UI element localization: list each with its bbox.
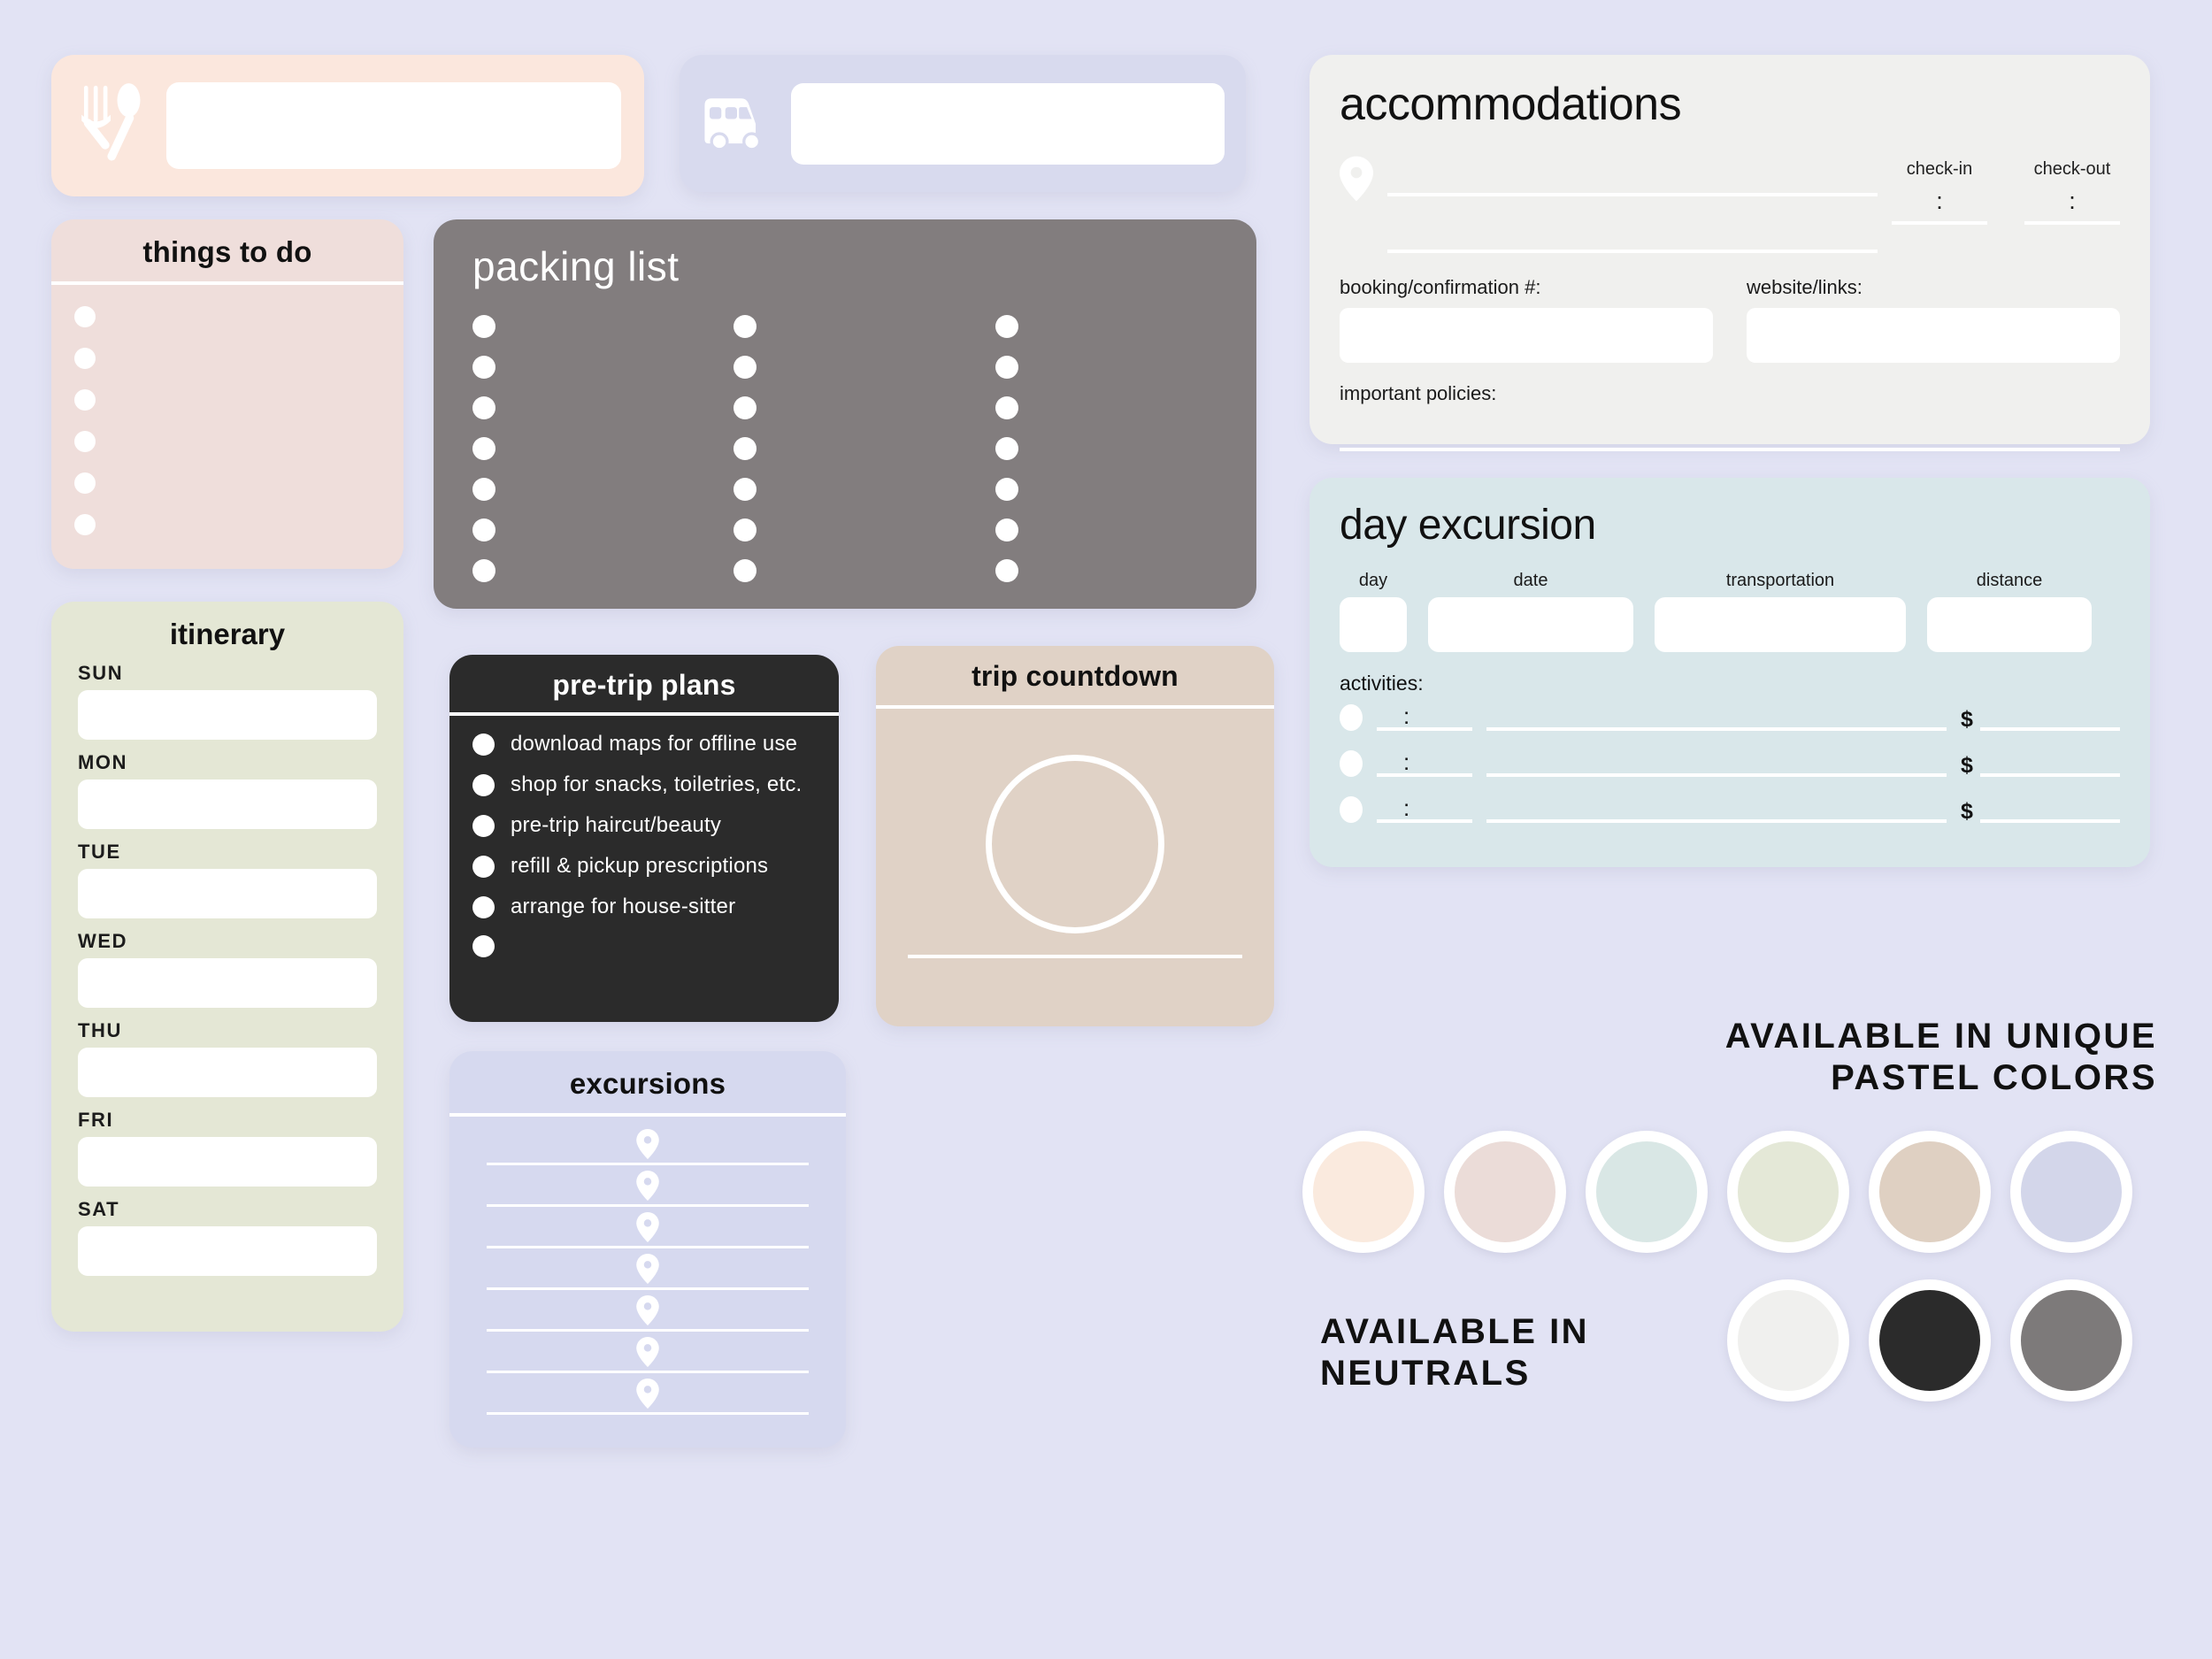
currency-symbol: $: [1961, 709, 1973, 731]
activity-cost-field[interactable]: $: [1961, 755, 2120, 777]
excursion-row[interactable]: [487, 1373, 809, 1415]
dining-input[interactable]: [166, 82, 621, 169]
check-in-label: check-in: [1892, 159, 1987, 180]
transport-card: [680, 55, 1246, 192]
distance-field-group: distance: [1927, 571, 2092, 652]
checkbox-bullet[interactable]: [472, 396, 495, 419]
pastel-tagline-line-2: PASTEL COLORS: [1725, 1057, 2157, 1099]
map-pin-icon: [636, 1254, 659, 1284]
map-pin-icon: [636, 1295, 659, 1325]
address-lines: [1387, 154, 1878, 253]
activity-time-field[interactable]: :: [1377, 773, 1472, 777]
packing-column-3: [995, 315, 1256, 582]
itinerary-day-row: SAT: [78, 1198, 377, 1276]
map-pin-icon: [636, 1337, 659, 1367]
neutral-tagline-line-2: NEUTRALS: [1320, 1353, 1589, 1394]
checkbox-bullet[interactable]: [995, 356, 1018, 379]
distance-column-label: distance: [1927, 571, 2092, 591]
packing-column-1: [472, 315, 733, 582]
itinerary-day-row: SUN: [78, 662, 377, 740]
checkbox-bullet[interactable]: [1340, 704, 1363, 731]
checkbox-bullet[interactable]: [995, 518, 1018, 541]
activity-cost-field[interactable]: $: [1961, 801, 2120, 823]
plan-item-label: arrange for house-sitter: [511, 895, 735, 919]
plan-item[interactable]: [472, 935, 839, 957]
excursion-row[interactable]: [487, 1124, 809, 1165]
day-excursion-title: day excursion: [1340, 501, 2120, 549]
trip-countdown-body: [876, 709, 1274, 1010]
itinerary-day-row: WED: [78, 930, 377, 1008]
itinerary-day-row: MON: [78, 751, 377, 829]
check-in-line[interactable]: [1892, 221, 1987, 225]
pre-trip-plans-list: download maps for offline use shop for s…: [449, 716, 839, 957]
itinerary-day-row: THU: [78, 1019, 377, 1097]
date-column-label: date: [1428, 571, 1633, 591]
pre-trip-plans-card: pre-trip plans download maps for offline…: [449, 655, 839, 1022]
day-input-thu[interactable]: [78, 1048, 377, 1097]
excursion-row[interactable]: [487, 1165, 809, 1207]
things-to-do-title: things to do: [51, 219, 403, 281]
time-separator: :: [1403, 796, 1409, 819]
checkbox-bullet[interactable]: [733, 315, 757, 338]
plan-item-label: refill & pickup prescriptions: [511, 854, 768, 879]
excursion-row[interactable]: [487, 1290, 809, 1332]
distance-input[interactable]: [1927, 597, 2092, 652]
check-out-label: check-out: [2024, 159, 2120, 180]
swatch-periwinkle[interactable]: [2010, 1131, 2132, 1253]
activity-row: : $: [1340, 750, 2120, 777]
checkbox-bullet[interactable]: [733, 356, 757, 379]
trip-countdown-card: trip countdown: [876, 646, 1274, 1026]
accommodations-title: accommodations: [1340, 78, 2120, 131]
activity-description-field[interactable]: [1486, 773, 1947, 777]
day-field-group: day: [1340, 571, 1407, 652]
pastel-swatch-row: [1302, 1131, 2132, 1253]
checkbox-bullet[interactable]: [733, 518, 757, 541]
activity-time-field[interactable]: :: [1377, 819, 1472, 823]
check-in-separator: :: [1892, 189, 1987, 213]
checkbox-bullet[interactable]: [472, 815, 495, 837]
day-label-sun: SUN: [78, 662, 377, 685]
excursion-row[interactable]: [487, 1207, 809, 1248]
activity-row: : $: [1340, 704, 2120, 731]
plan-item[interactable]: download maps for offline use: [472, 732, 839, 757]
excursion-row[interactable]: [487, 1248, 809, 1290]
countdown-circle-input[interactable]: [986, 755, 1164, 933]
itinerary-day-row: FRI: [78, 1109, 377, 1187]
checkbox-bullet[interactable]: [733, 478, 757, 501]
policies-line[interactable]: [1340, 448, 2120, 451]
checkbox-bullet[interactable]: [74, 348, 96, 369]
countdown-note-line[interactable]: [908, 955, 1242, 958]
itinerary-day-row: TUE: [78, 841, 377, 918]
checkbox-bullet[interactable]: [733, 437, 757, 460]
activity-description-field[interactable]: [1486, 819, 1947, 823]
date-field-group: date: [1428, 571, 1633, 652]
day-input-fri[interactable]: [78, 1137, 377, 1187]
checkbox-bullet[interactable]: [995, 437, 1018, 460]
pre-trip-plans-title: pre-trip plans: [449, 655, 839, 712]
plan-item[interactable]: arrange for house-sitter: [472, 895, 839, 919]
date-input[interactable]: [1428, 597, 1633, 652]
checkbox-bullet[interactable]: [472, 356, 495, 379]
day-label-sat: SAT: [78, 1198, 377, 1221]
checkbox-bullet[interactable]: [472, 774, 495, 796]
swatch-warm-tan[interactable]: [1869, 1131, 1991, 1253]
checkbox-bullet[interactable]: [74, 472, 96, 494]
day-input-sat[interactable]: [78, 1226, 377, 1276]
checkbox-bullet[interactable]: [74, 306, 96, 327]
checkbox-bullet[interactable]: [472, 733, 495, 756]
packing-list-grid: [472, 315, 1256, 582]
map-pin-icon: [636, 1171, 659, 1201]
plan-item-label: pre-trip haircut/beauty: [511, 813, 721, 838]
plan-item[interactable]: shop for snacks, toiletries, etc.: [472, 772, 839, 797]
day-input[interactable]: [1340, 597, 1407, 652]
swatch-off-white[interactable]: [1727, 1279, 1849, 1402]
map-pin-icon: [636, 1379, 659, 1409]
plan-item-label: download maps for offline use: [511, 732, 797, 757]
plan-item-label: shop for snacks, toiletries, etc.: [511, 772, 802, 797]
day-input-tue[interactable]: [78, 869, 377, 918]
pastel-tagline-line-1: AVAILABLE IN UNIQUE: [1725, 1016, 2157, 1057]
activity-cost-field[interactable]: $: [1961, 709, 2120, 731]
checkbox-bullet[interactable]: [472, 315, 495, 338]
day-excursion-fields: day date transportation distance: [1340, 571, 2120, 652]
checkbox-bullet[interactable]: [74, 514, 96, 535]
check-out-line[interactable]: [2024, 221, 2120, 225]
check-out-separator: :: [2024, 189, 2120, 213]
excursions-list: [449, 1117, 846, 1415]
day-input-mon[interactable]: [78, 780, 377, 829]
day-label-thu: THU: [78, 1019, 377, 1042]
checkbox-bullet[interactable]: [472, 437, 495, 460]
itinerary-title: itinerary: [78, 618, 377, 651]
neutral-swatch-row: [1727, 1279, 2132, 1402]
excursions-card: excursions: [449, 1051, 846, 1448]
checkbox-bullet[interactable]: [472, 935, 495, 957]
checkbox-bullet[interactable]: [74, 389, 96, 411]
transportation-field-group: transportation: [1655, 571, 1906, 652]
activity-description-field[interactable]: [1486, 727, 1947, 731]
check-times-header: check-in check-out: [1892, 159, 2120, 180]
transport-input[interactable]: [791, 83, 1225, 165]
day-label-mon: MON: [78, 751, 377, 774]
checkbox-bullet[interactable]: [995, 478, 1018, 501]
checkbox-bullet[interactable]: [995, 559, 1018, 582]
pastel-tagline: AVAILABLE IN UNIQUE PASTEL COLORS: [1725, 1016, 2157, 1099]
checkbox-bullet[interactable]: [733, 396, 757, 419]
day-excursion-card: day excursion day date transportation di…: [1310, 478, 2150, 867]
packing-list-card: packing list: [434, 219, 1256, 609]
itinerary-card: itinerary SUN MON TUE WED THU FRI SAT: [51, 602, 403, 1332]
checkbox-bullet[interactable]: [472, 518, 495, 541]
currency-symbol: $: [1961, 801, 1973, 823]
day-label-wed: WED: [78, 930, 377, 953]
booking-input[interactable]: [1340, 308, 1713, 363]
swatch-mid-gray[interactable]: [2010, 1279, 2132, 1402]
map-pin-icon: [636, 1212, 659, 1242]
transportation-input[interactable]: [1655, 597, 1906, 652]
swatch-dusty-rose[interactable]: [1444, 1131, 1566, 1253]
time-separator: :: [1403, 750, 1409, 773]
activities-label: activities:: [1340, 672, 2120, 695]
checkbox-bullet[interactable]: [995, 396, 1018, 419]
booking-website-row: booking/confirmation #: website/links:: [1340, 276, 2120, 363]
map-pin-icon: [636, 1129, 659, 1159]
swatch-pale-mint[interactable]: [1586, 1131, 1708, 1253]
checkbox-bullet[interactable]: [1340, 750, 1363, 777]
checkbox-bullet[interactable]: [74, 431, 96, 452]
checkbox-bullet[interactable]: [733, 559, 757, 582]
checkbox-bullet[interactable]: [472, 896, 495, 918]
checkbox-bullet[interactable]: [995, 315, 1018, 338]
website-group: website/links:: [1747, 276, 2120, 363]
day-column-label: day: [1340, 571, 1407, 591]
checkbox-bullet[interactable]: [472, 478, 495, 501]
transportation-column-label: transportation: [1655, 571, 1906, 591]
packing-column-2: [733, 315, 995, 582]
website-label: website/links:: [1747, 276, 2120, 299]
activity-time-field[interactable]: :: [1377, 727, 1472, 731]
address-line-2[interactable]: [1387, 250, 1878, 253]
day-label-fri: FRI: [78, 1109, 377, 1132]
dining-card: [51, 55, 644, 196]
policies-label: important policies:: [1340, 382, 2120, 405]
packing-list-title: packing list: [472, 242, 1256, 290]
day-input-sun[interactable]: [78, 690, 377, 740]
neutral-tagline-line-1: AVAILABLE IN: [1320, 1311, 1589, 1353]
plan-item[interactable]: refill & pickup prescriptions: [472, 854, 839, 879]
fork-and-spoon-icon: [74, 83, 147, 168]
activity-row: : $: [1340, 796, 2120, 823]
excursion-row[interactable]: [487, 1332, 809, 1373]
accommodations-card: accommodations check-in check-out : :: [1310, 55, 2150, 444]
things-to-do-list: [51, 285, 403, 535]
swatch-peach-cream[interactable]: [1302, 1131, 1425, 1253]
map-pin-icon: [1340, 156, 1373, 202]
day-input-wed[interactable]: [78, 958, 377, 1008]
bus-icon: [701, 81, 773, 166]
excursions-title: excursions: [449, 1051, 846, 1113]
booking-group: booking/confirmation #:: [1340, 276, 1713, 363]
currency-symbol: $: [1961, 755, 1973, 777]
day-label-tue: TUE: [78, 841, 377, 864]
checkbox-bullet[interactable]: [472, 559, 495, 582]
things-to-do-card: things to do: [51, 219, 403, 569]
website-input[interactable]: [1747, 308, 2120, 363]
checkbox-bullet[interactable]: [1340, 796, 1363, 823]
trip-countdown-title: trip countdown: [876, 646, 1274, 705]
checkbox-bullet[interactable]: [472, 856, 495, 878]
plan-item[interactable]: pre-trip haircut/beauty: [472, 813, 839, 838]
neutral-tagline: AVAILABLE IN NEUTRALS: [1320, 1311, 1589, 1394]
swatch-sage-green[interactable]: [1727, 1131, 1849, 1253]
booking-label: booking/confirmation #:: [1340, 276, 1713, 299]
swatch-charcoal-black[interactable]: [1869, 1279, 1991, 1402]
time-separator: :: [1403, 704, 1409, 727]
